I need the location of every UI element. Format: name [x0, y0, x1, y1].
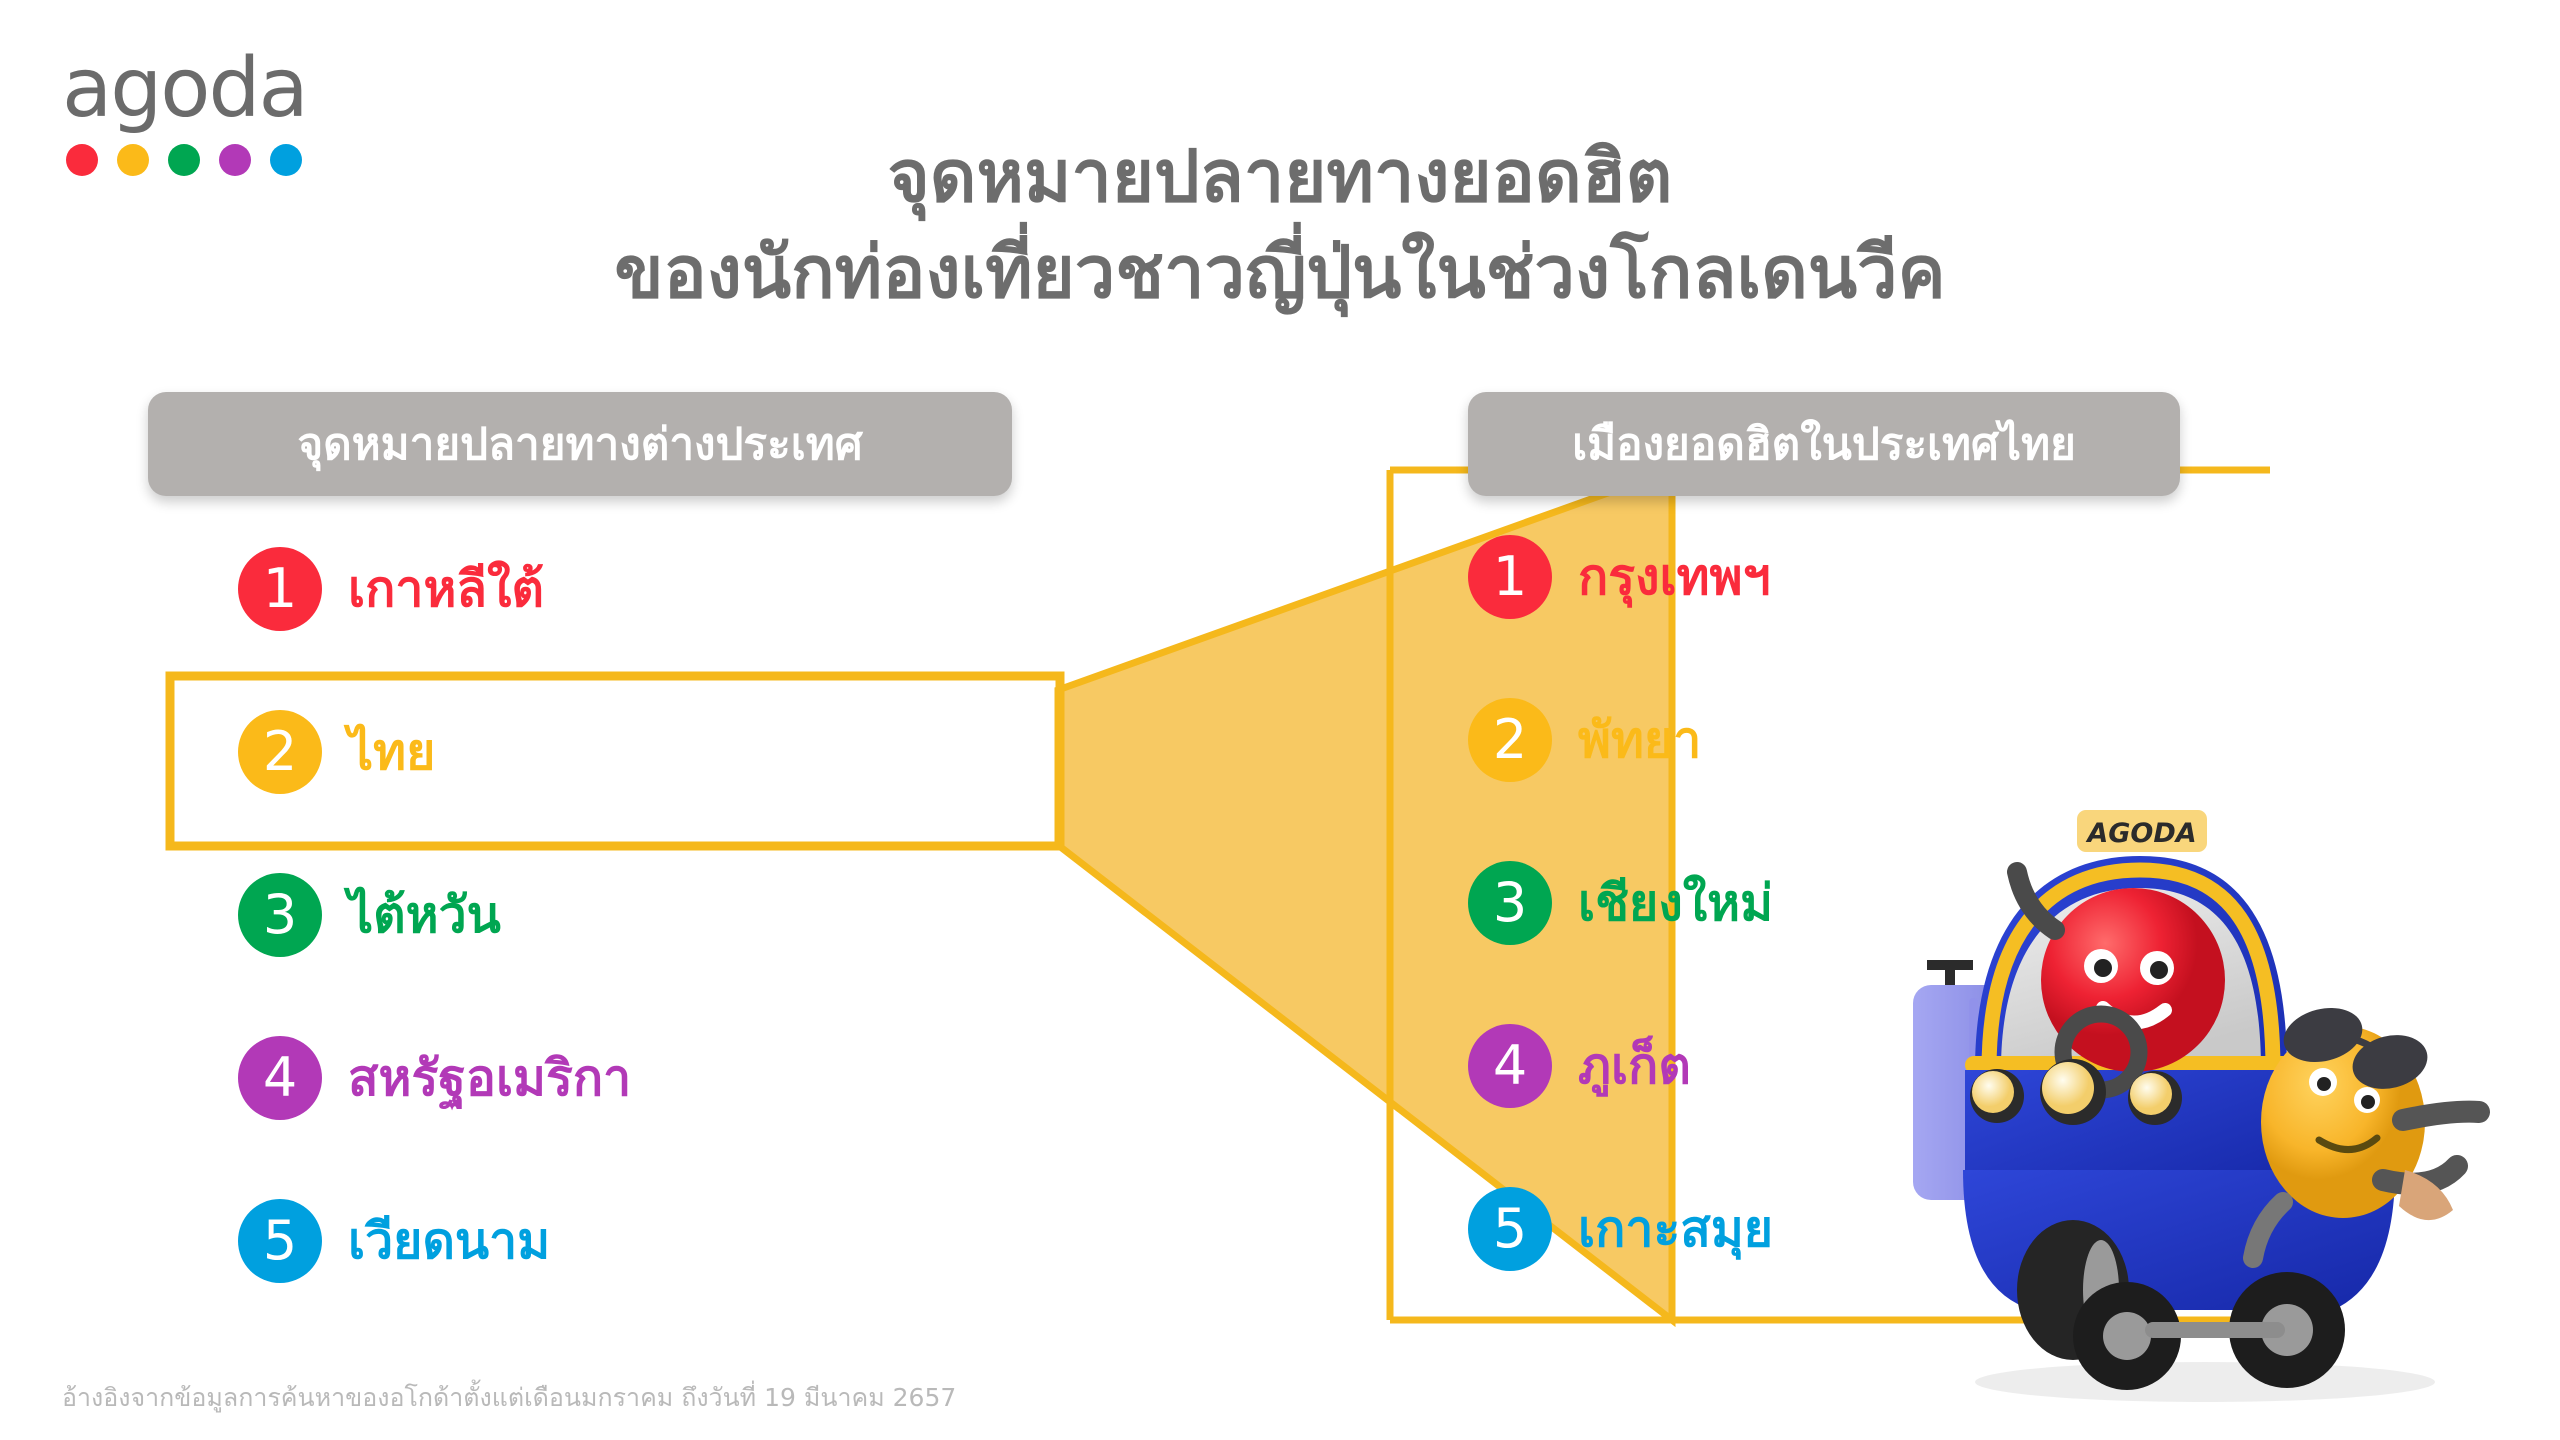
rank-row-international-4[interactable]: 4สหรัฐอเมริกา [238, 1029, 631, 1127]
rank-badge-international-5: 5 [238, 1199, 322, 1283]
panel-header-domestic-label: เมืองยอดฮิตในประเทศไทย [1572, 409, 2076, 479]
rank-badge-international-4: 4 [238, 1036, 322, 1120]
rank-row-international-1[interactable]: 1เกาหลีใต้ [238, 540, 631, 638]
page-title: จุดหมายปลายทางยอดฮิต ของนักท่องเที่ยวชาว… [0, 128, 2560, 320]
rank-row-domestic-3[interactable]: 3เชียงใหม่ [1468, 854, 1773, 952]
page-title-line-1: จุดหมายปลายทางยอดฮิต [0, 128, 2560, 224]
rank-label-domestic-3: เชียงใหม่ [1578, 864, 1773, 943]
rank-row-domestic-4[interactable]: 4ภูเก็ต [1468, 1017, 1773, 1115]
rank-badge-domestic-4: 4 [1468, 1024, 1552, 1108]
rank-label-international-5: เวียดนาม [348, 1202, 550, 1281]
panel-header-international-label: จุดหมายปลายทางต่างประเทศ [297, 409, 862, 479]
ranking-list-domestic: 1กรุงเทพฯ2พัทยา3เชียงใหม่4ภูเก็ต5เกาะสมุ… [1468, 528, 1773, 1343]
rank-row-international-5[interactable]: 5เวียดนาม [238, 1192, 631, 1290]
logo-wordmark: agoda [62, 48, 307, 130]
ground-shadow [1975, 1362, 2435, 1402]
rank-label-international-2: ไทย [348, 713, 435, 792]
panel-header-domestic: เมืองยอดฮิตในประเทศไทย [1468, 392, 2180, 496]
source-footnote: อ้างอิงจากข้อมูลการค้นหาของอโกด้าตั้งแต่… [62, 1378, 956, 1418]
ranking-list-international: 1เกาหลีใต้2ไทย3ไต้หวัน4สหรัฐอเมริกา5เวีย… [238, 540, 631, 1355]
rank-row-domestic-5[interactable]: 5เกาะสมุย [1468, 1180, 1773, 1278]
rank-row-international-2[interactable]: 2ไทย [238, 703, 631, 801]
rank-label-international-1: เกาหลีใต้ [348, 550, 544, 629]
panel-header-international: จุดหมายปลายทางต่างประเทศ [148, 392, 1012, 496]
tuktuk-illustration: AGODA [1905, 770, 2545, 1410]
rank-label-domestic-1: กรุงเทพฯ [1578, 538, 1771, 617]
rank-badge-domestic-2: 2 [1468, 698, 1552, 782]
rank-badge-international-1: 1 [238, 547, 322, 631]
rank-badge-domestic-5: 5 [1468, 1187, 1552, 1271]
svg-text:AGODA: AGODA [2085, 818, 2196, 849]
rank-label-domestic-5: เกาะสมุย [1578, 1190, 1773, 1269]
rank-row-international-3[interactable]: 3ไต้หวัน [238, 866, 631, 964]
page-title-line-2: ของนักท่องเที่ยวชาวญี่ปุ่นในช่วงโกลเดนวี… [0, 224, 2560, 320]
rank-label-international-4: สหรัฐอเมริกา [348, 1039, 631, 1118]
rank-row-domestic-1[interactable]: 1กรุงเทพฯ [1468, 528, 1773, 626]
rank-badge-international-2: 2 [238, 710, 322, 794]
rank-badge-international-3: 3 [238, 873, 322, 957]
rank-badge-domestic-1: 1 [1468, 535, 1552, 619]
rank-label-domestic-4: ภูเก็ต [1578, 1027, 1691, 1106]
passenger-arm-waving [2403, 1112, 2479, 1120]
rank-label-domestic-2: พัทยา [1578, 701, 1701, 780]
infographic-canvas: agoda จุดหมายปลายทางยอดฮิต ของนักท่องเที… [0, 0, 2560, 1440]
taxi-roof-sign: AGODA [2077, 810, 2207, 852]
rank-row-domestic-2[interactable]: 2พัทยา [1468, 691, 1773, 789]
rank-badge-domestic-3: 3 [1468, 861, 1552, 945]
rank-label-international-3: ไต้หวัน [348, 876, 501, 955]
